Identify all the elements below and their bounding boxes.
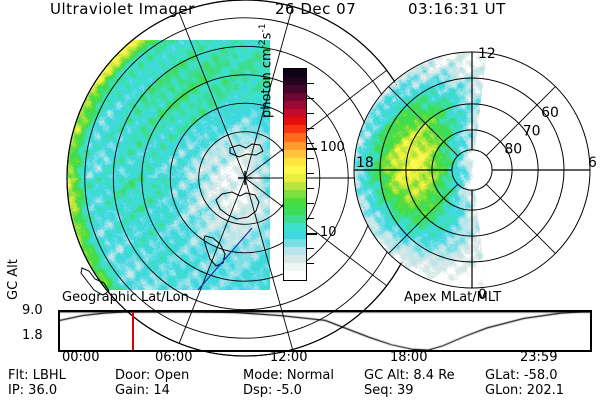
- mlat-label-80: 80: [504, 142, 522, 158]
- time-tick-label-2: 12:00: [270, 350, 307, 365]
- status-field-flt: Flt: LBHL: [8, 368, 66, 383]
- mlat-label-60: 60: [541, 105, 559, 121]
- status-field-dsp: Dsp: -5.0: [243, 383, 302, 398]
- orbit-altitude-chart[interactable]: [58, 310, 592, 352]
- apex-polar-grid-overlay: 126018607080: [345, 42, 595, 292]
- colorbar-unit-exp1: -2: [258, 39, 268, 48]
- mlat-label-70: 70: [523, 123, 541, 139]
- colorbar-axis-label: photon cm-2s-1: [258, 24, 274, 118]
- colorbar-unit-exp2: -1: [258, 24, 268, 33]
- altitude-tick-min: 1.8: [22, 328, 43, 343]
- observation-time: 03:16:31 UT: [408, 0, 506, 18]
- colorbar-minor-tick: [307, 128, 314, 129]
- colorbar-minor-tick: [307, 98, 314, 99]
- longitude-meridian: [179, 13, 245, 178]
- colorbar-tick-label-1: 10: [320, 226, 337, 239]
- status-field-seq: Seq: 39: [364, 383, 414, 398]
- apex-panel-caption: Apex MLat/MLT: [404, 290, 501, 305]
- status-readout: Flt: LBHLDoor: OpenMode: NormalGC Alt: 8…: [0, 368, 600, 400]
- colorbar-minor-tick: [307, 203, 314, 204]
- time-tick-label-0: 00:00: [62, 350, 99, 365]
- colorbar-minor-tick: [307, 263, 314, 264]
- time-tick-label-3: 18:00: [390, 350, 427, 365]
- header-bar: Ultraviolet Imager 26 Dec 07 03:16:31 UT: [0, 0, 600, 26]
- status-field-glon: GLon: 202.1: [485, 383, 564, 398]
- apex-polar-panel[interactable]: 126018607080: [345, 42, 595, 292]
- colorbar-major-tick: [307, 233, 317, 235]
- observation-date: 26 Dec 07: [275, 0, 356, 18]
- colorbar-unit-s: s: [259, 33, 274, 40]
- mlat-ring: [452, 150, 492, 190]
- status-row-1: IP: 36.0Gain: 14Dsp: -5.0Seq: 39GLon: 20…: [0, 383, 600, 398]
- geographic-grid-overlay: [20, 40, 270, 290]
- time-tick-label-1: 06:00: [155, 350, 192, 365]
- colorbar-tick-label-0: 100: [320, 141, 345, 154]
- status-field-gc alt: GC Alt: 8.4 Re: [364, 368, 455, 383]
- status-field-ip: IP: 36.0: [8, 383, 57, 398]
- orbit-altitude-trace: [60, 312, 590, 350]
- mlt-label-18: 18: [356, 155, 374, 171]
- mlt-spoke: [486, 184, 555, 253]
- colorbar-minor-tick: [307, 188, 314, 189]
- colorbar-minor-tick: [307, 173, 314, 174]
- mlt-spoke: [389, 87, 458, 156]
- colorbar-ticks: 10010: [307, 68, 347, 281]
- status-field-glat: GLat: -58.0: [485, 368, 558, 383]
- orbit-track: [198, 228, 252, 290]
- status-row-0: Flt: LBHLDoor: OpenMode: NormalGC Alt: 8…: [0, 368, 600, 383]
- time-cursor[interactable]: [132, 312, 134, 350]
- colorbar-minor-tick: [307, 218, 314, 219]
- colorbar-major-tick: [307, 148, 317, 150]
- mlt-label-12: 12: [478, 46, 496, 62]
- colorbar-minor-tick: [307, 83, 314, 84]
- time-tick-label-4: 23:59: [520, 350, 557, 365]
- status-field-door: Door: Open: [115, 368, 189, 383]
- colorbar: 10010: [283, 68, 307, 281]
- altitude-tick-max: 9.0: [22, 303, 43, 318]
- status-field-gain: Gain: 14: [115, 383, 170, 398]
- coastline: [204, 236, 225, 266]
- mlt-label-6: 6: [588, 155, 597, 171]
- altitude-axis-title: GC Alt: [6, 259, 21, 300]
- mlt-spoke: [389, 184, 458, 253]
- coastline: [230, 144, 263, 157]
- colorbar-minor-tick: [307, 248, 314, 249]
- colorbar-minor-tick: [307, 113, 314, 114]
- colorbar-minor-tick: [307, 143, 314, 144]
- colorbar-minor-tick: [307, 158, 314, 159]
- colorbar-unit-photon: photon cm: [259, 48, 274, 118]
- colorbar-gradient: [283, 68, 307, 281]
- geographic-image-panel[interactable]: [20, 40, 270, 290]
- geographic-panel-caption: Geographic Lat/Lon: [62, 290, 189, 305]
- status-field-mode: Mode: Normal: [243, 368, 334, 383]
